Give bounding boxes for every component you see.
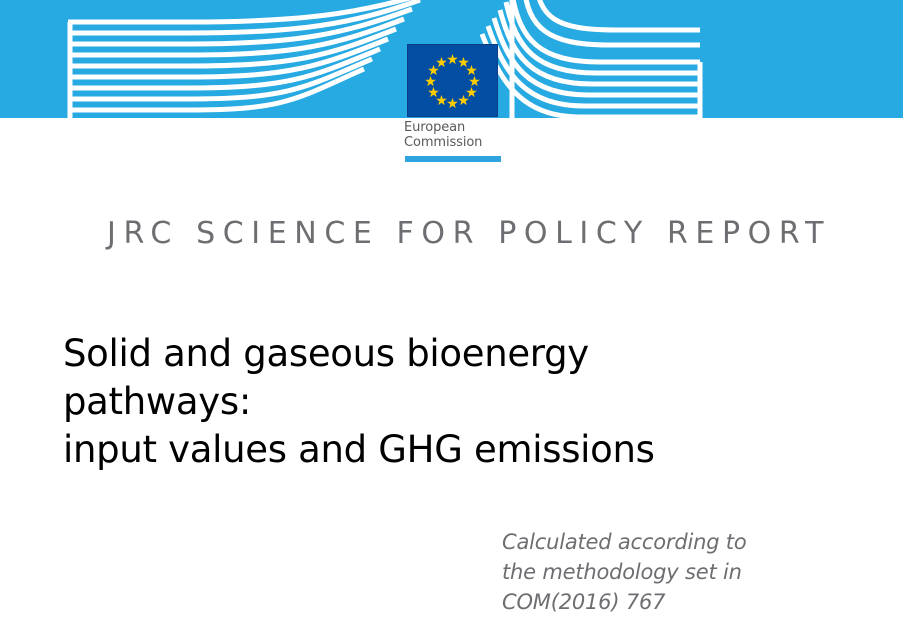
ec-wordmark-rule [405, 156, 501, 162]
ec-wordmark-line-2: Commission [404, 135, 564, 150]
report-series-label: JRC SCIENCE FOR POLICY REPORT [107, 216, 831, 251]
page-title-line-2: pathways: [63, 378, 843, 426]
subtitle-note-line-1: Calculated according to [502, 527, 832, 557]
page-title: Solid and gaseous bioenergy pathways: in… [63, 330, 843, 474]
eu-banner [0, 0, 903, 118]
swoosh-right [482, 0, 700, 117]
eu-flag [408, 45, 497, 116]
page-title-line-3: input values and GHG emissions [63, 426, 843, 474]
subtitle-note-line-3: COM(2016) 767 [502, 587, 832, 617]
page-title-line-1: Solid and gaseous bioenergy [63, 330, 843, 378]
ec-wordmark-line-1: European [404, 120, 564, 135]
swoosh-left [68, 0, 430, 110]
ec-wordmark: European Commission [404, 120, 564, 150]
subtitle-note: Calculated according to the methodology … [502, 527, 832, 617]
subtitle-note-line-2: the methodology set in [502, 557, 832, 587]
eu-stars-icon [408, 45, 497, 116]
